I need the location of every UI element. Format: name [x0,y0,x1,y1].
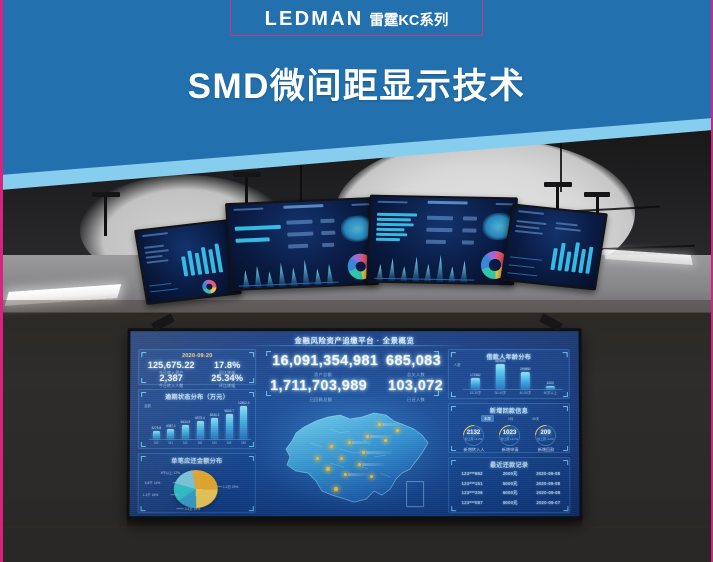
map-hotspot[interactable] [384,439,387,442]
kpi-value-3: 25.34% [201,374,253,383]
bar-category-label: M4 [207,441,222,445]
bar-value-label: 5634.9 [178,420,193,424]
bar-category-label: 30-40岁 [488,390,513,395]
headline-value-3: 103,072 [388,379,443,393]
map-hotspot[interactable] [326,467,330,471]
bar [153,431,160,439]
bar-value-label: 382658 [488,359,513,363]
map-hotspot[interactable] [334,487,338,491]
table-row[interactable]: 123***1515000元2020-09-08 [453,481,567,487]
map-hotspot-tag [352,441,372,444]
panel-corner-bl [450,392,455,397]
brand-name-cn: 雷霆KC系列 [369,9,448,30]
bar-value-label: 8340.2 [207,413,222,417]
age-chart-ylabel: 人数 [454,362,461,367]
slide-page: 金融风险资产追缴平台 · 全景概览 2020-09-20 125,675.22 … [0,0,713,562]
overhead-screen-1-content [136,221,239,302]
overhead-screen-2-content [227,199,377,289]
map-hotspot-tag [362,463,384,466]
headline-value-2: 1,711,703,989 [270,379,367,393]
overhead-screen-3[interactable] [366,195,518,286]
brand-logo-plate: LEDMAN 雷霆KC系列 [230,0,483,36]
brand-name-en: LEDMAN [265,8,364,31]
pie-leader-line [173,482,180,483]
age-chart-panel[interactable]: 借款人年龄分布 人数 17238218-30岁38265830-40岁25985… [448,349,570,399]
kpi-value-1: 17.8% [201,361,253,370]
bar [521,372,530,389]
pie-leader-line [191,472,198,473]
overhead-screen-cluster [140,178,575,303]
table-cell: 123***087 [453,500,491,506]
screen-mount-bracket-1 [92,192,120,197]
kpi-value-0: 125,675.22 [143,361,199,370]
screen-mount-bracket-2 [233,172,261,177]
repay-gauge-value-0: 2132 [467,430,481,436]
overhead-screen-4-content [502,206,605,289]
bar [546,386,555,389]
repay-tab-0[interactable]: 本周 [481,415,494,422]
repay-gauge-value-2: 209 [540,430,550,436]
panel-corner-br [248,506,253,511]
led-video-wall[interactable]: 金融风险资产追缴平台 · 全景概览 2020-09-20 125,675.22 … [126,328,582,520]
repay-gauge-sub-1: 较上周 +2.7% [501,437,518,441]
screen-mount-pole-1 [104,196,107,236]
kpi-date: 2020-09-20 [139,353,255,359]
bar [167,428,174,439]
kpi-panel: 2020-09-20 125,675.22 今日转入资产 17.8% 同比增幅 … [138,349,256,385]
kpi-label-3: 环比增幅 [201,384,253,388]
pie-slice-label: 3-5万 24% [185,506,201,511]
overdue-chart-bars: 3275.8M04087.1M15634.9M26975.4M38340.2M4… [149,403,251,439]
repay-gauge-value-1: 1023 [503,430,517,436]
kpi-value-2: 2,387 [143,374,199,383]
table-cell: 2000元 [491,471,529,477]
pie-slice-label: 8千以上 17% [161,470,180,475]
brand-logo: LEDMAN 雷霆KC系列 [265,8,449,31]
headline-value-1: 685,083 [386,354,441,368]
kpi-cell-2: 2,387 今日转入人数 [143,374,199,388]
table-cell: 8000元 [491,500,529,506]
map-hotspot[interactable] [370,475,373,478]
bar [182,425,189,439]
bar-value-label: 172382 [463,373,488,377]
overdue-chart-panel[interactable]: 逾期状态分布（万元） 金额 3275.8M04087.1M15634.9M269… [138,389,256,449]
overhead-screen-3-content [368,197,516,284]
bar-value-label: 12802.3 [236,401,251,405]
kpi-label-2: 今日转入人数 [143,384,199,388]
overdue-chart-title: 逾期状态分布（万元） [139,392,255,401]
map-hotspot[interactable] [316,457,319,460]
table-cell: 6000元 [491,490,529,496]
map-hotspot-tag [370,435,394,438]
repay-tab-2[interactable]: 30天 [529,415,542,422]
bar-category-label: 18-30岁 [463,390,488,395]
bar [196,421,203,439]
bar-category-label: M5 [222,441,237,445]
pie-slice-label: 1-3万 29% [223,484,239,489]
bar [471,378,480,389]
repay-gauge-0[interactable]: 2132 较上周 +4.2% [463,425,484,446]
repay-tab-1[interactable]: 1月 [505,415,516,422]
pie-slice-label: 5-8千 14% [145,480,161,485]
map-hotspot-tag [348,473,368,476]
wall-seam-1 [0,312,713,313]
age-chart-bars: 17238218-30岁38265830-40岁25985040-50岁8320… [463,361,563,389]
headline-value-0: 16,091,354,981 [272,354,378,368]
map-hotspot[interactable] [396,429,399,432]
repay-gauge-caption-2: 新增回款 [527,447,565,453]
repay-gauge-sub-0: 较上周 +4.2% [465,437,482,441]
panel-corner-tl [266,351,271,356]
map-inset-south-sea [406,481,424,507]
overhead-screen-2[interactable] [225,197,379,291]
pie-leader-line [215,486,222,487]
bar-category-label: 40-50岁 [513,390,538,395]
bar-category-label: M3 [193,441,208,445]
bar-value-label: 8320 [538,381,563,385]
pie-chart-graphic [174,470,218,508]
table-row[interactable]: 123***9922000元2020-09-08 [453,471,567,477]
overhead-screen-4[interactable] [500,203,608,290]
table-cell: 5000元 [491,481,529,487]
map-hotspot-tag [382,423,404,426]
table-cell: 2020-09-08 [529,481,567,487]
bar-value-label: 3275.8 [149,426,164,430]
bar-value-label: 259850 [513,367,538,371]
page-frame-left [0,0,3,562]
bar [226,414,233,439]
bar-category-label: 50岁以上 [538,390,563,395]
table-cell: 123***206 [453,490,491,496]
repay-panel[interactable]: 新增回款信息 本周 1月 30天 2132 较上周 +4.2% 新增转入人 10… [448,403,570,453]
repay-gauge-2[interactable]: 209 较上周 -1.1% [535,425,556,446]
records-panel[interactable]: 最近还款记录 123***9922000元2020-09-08123***151… [448,457,570,513]
bar [496,364,505,389]
china-map[interactable] [270,399,440,511]
bar-category-label: M0 [149,441,164,445]
repay-panel-title: 新增回款信息 [449,406,569,415]
table-cell: 123***151 [453,481,491,487]
bar [211,418,218,439]
repay-gauge-sub-2: 较上周 -1.1% [537,437,554,441]
pie-leader-line [177,508,184,509]
pie-leader-line [171,494,178,495]
table-cell: 2020-09-08 [529,490,567,496]
table-cell: 2020-09-08 [529,471,567,477]
bar-value-label: 9803.7 [222,409,237,413]
repay-gauge-1[interactable]: 1023 较上周 +2.7% [499,425,520,446]
kpi-cell-3: 25.34% 环比增幅 [201,374,253,388]
table-row[interactable]: 123***2066000元2020-09-08 [453,490,567,496]
bar [240,406,247,439]
table-cell: 2020-09-07 [529,500,567,506]
dashboard-title-rule [240,345,470,346]
panel-corner-bl [140,506,145,511]
bar-category-label: M6 [236,441,251,445]
map-hotspot-tag [366,451,392,454]
pie-chart-panel[interactable]: 单笔应还金额分布 1-3万 29%3-5万 24%1-3千 16%5-8千 14… [138,453,256,513]
bar-value-label: 4087.1 [164,424,179,428]
bar-value-label: 6975.4 [193,416,208,420]
bar-category-label: M1 [163,441,178,445]
pie-chart-title: 单笔应还金额分布 [139,456,255,465]
pie-slice-label: 1-3千 16% [143,492,159,497]
table-row[interactable]: 123***0878000元2020-09-07 [453,500,567,506]
headline-metrics: 16,091,354,981 资产总额 685,083 总欠人数 1,711,7… [264,349,440,397]
panel-corner-br [562,392,567,397]
panel-corner-bl [140,442,145,447]
repay-gauge-caption-1: 新增申请 [491,447,529,453]
screen-mount-bracket-4 [584,192,610,197]
page-title: SMD微间距显示技术 [0,58,713,109]
repay-gauge-caption-0: 新增转入人 [455,447,493,453]
table-cell: 123***992 [453,471,491,477]
led-wall-screen[interactable]: 金融风险资产追缴平台 · 全景概览 2020-09-20 125,675.22 … [130,331,580,516]
records-table: 123***9922000元2020-09-08123***1515000元20… [453,471,567,511]
bar-category-label: M2 [178,441,193,445]
records-panel-title: 最近还款记录 [449,460,569,469]
overhead-screen-1[interactable] [134,219,242,305]
